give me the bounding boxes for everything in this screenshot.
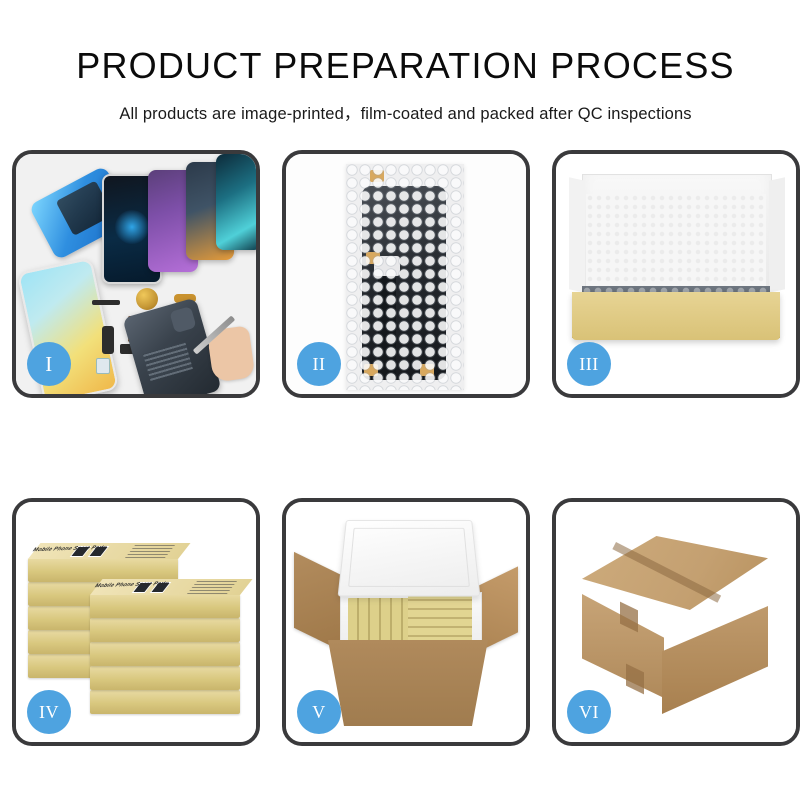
- step-badge-6: VI: [567, 690, 611, 734]
- header: PRODUCT PREPARATION PROCESS All products…: [0, 0, 811, 124]
- step-badge-4: IV: [27, 690, 71, 734]
- styrofoam-lid-icon: [338, 520, 481, 596]
- carton-body-icon: [328, 640, 488, 726]
- step-badge-3: III: [567, 342, 611, 386]
- product-preparation-infographic: PRODUCT PREPARATION PROCESS All products…: [0, 0, 811, 811]
- gold-boxes-row-2-icon: [408, 596, 472, 644]
- teal-phone-icon: [216, 154, 256, 250]
- bubble-texture-overlay: [346, 164, 464, 390]
- foam-texture-icon: [586, 194, 766, 298]
- process-steps-grid: I II: [12, 150, 799, 748]
- step-panel-3: III: [552, 150, 800, 398]
- sim-tray-part-icon: [96, 358, 110, 374]
- step-panel-4: Mobile Phone Spare Parts Mobile Pho: [12, 498, 260, 746]
- stacked-box: [90, 642, 240, 666]
- flex-strip-part-icon: [92, 300, 120, 305]
- step-panel-2: II: [282, 150, 530, 398]
- step-badge-1: I: [27, 342, 71, 386]
- stacked-box: [90, 618, 240, 642]
- step-badge-5: V: [297, 690, 341, 734]
- stacked-box: [90, 666, 240, 690]
- stacked-box-top-front: Mobile Phone Spare Parts: [90, 594, 240, 618]
- gold-box-tray-icon: [572, 292, 780, 340]
- page-subtitle: All products are image-printed，film-coat…: [0, 100, 811, 124]
- carton-right-face: [662, 606, 768, 714]
- speaker-part-icon: [136, 288, 158, 310]
- flex-cable-part-icon: [102, 326, 114, 354]
- step-panel-6: VI: [552, 498, 800, 746]
- step-panel-1: I: [12, 150, 260, 398]
- step-badge-2: II: [297, 342, 341, 386]
- bubble-wrap-bag-icon: [346, 164, 464, 390]
- step-panel-5: V: [282, 498, 530, 746]
- page-title: PRODUCT PREPARATION PROCESS: [0, 48, 811, 84]
- stacked-box: [90, 690, 240, 714]
